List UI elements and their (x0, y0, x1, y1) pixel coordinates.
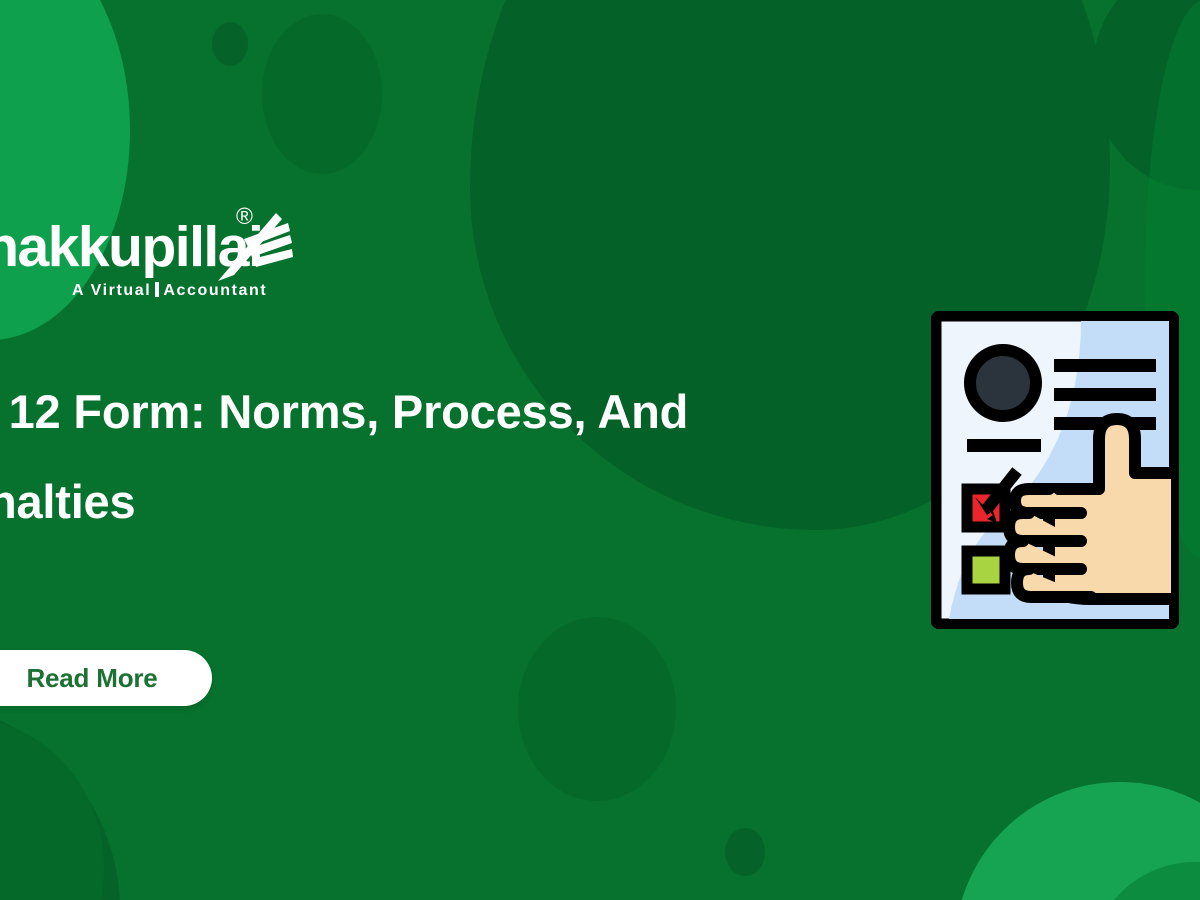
decor-oval-bottom-small (725, 828, 765, 876)
brand-logo[interactable]: anakkupillai A VirtualAccountant ® (0, 205, 334, 310)
decor-circle-top-small (212, 22, 248, 66)
decor-arc-bottom-left (0, 700, 120, 900)
page-title-line-2: enalties (0, 457, 862, 547)
tagline-divider-bar (155, 282, 159, 297)
decor-oval-bottom-mid (518, 617, 676, 801)
brand-tagline-left: A Virtual (72, 282, 151, 299)
page-title-line-1: R 12 Form: Norms, Process, And (0, 367, 862, 457)
decor-circle-bottom-right (955, 782, 1200, 900)
fan-pages-mark-icon (214, 209, 294, 287)
illustration-approved-form-thumbs-up (931, 311, 1179, 629)
page-title: R 12 Form: Norms, Process, And enalties (0, 367, 862, 547)
decor-circle-top-mid (262, 14, 382, 174)
banner-root: anakkupillai A VirtualAccountant ® R 12 … (0, 0, 1200, 900)
read-more-button[interactable]: Read More (0, 650, 212, 706)
approved-form-thumbs-up-icon (931, 311, 1179, 629)
decor-circle-bottom-left (0, 718, 104, 900)
decor-circle-bottom-right-inner (1090, 862, 1200, 900)
decor-circle-top-right (1092, 0, 1200, 190)
